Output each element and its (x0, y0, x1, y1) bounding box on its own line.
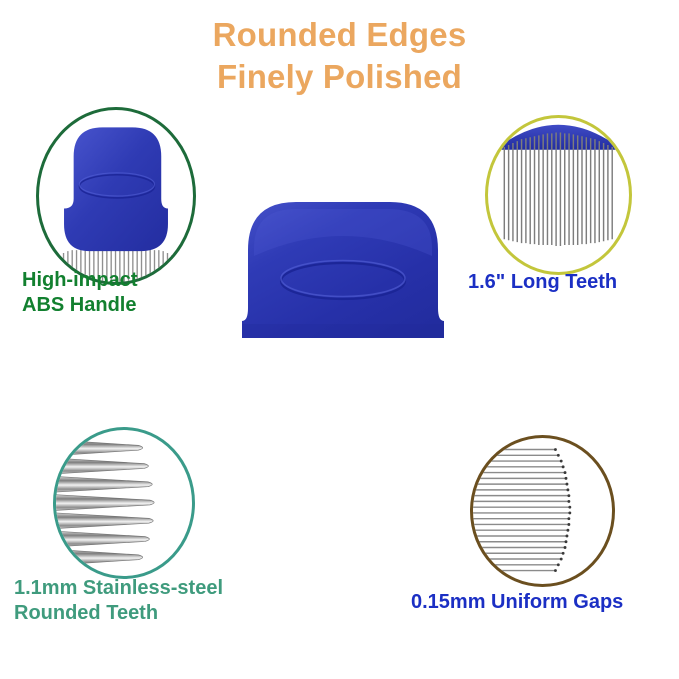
rounded-teeth-detail-icon (56, 430, 192, 576)
caption-abs-handle: High-impact ABS Handle (22, 268, 212, 318)
lice-comb-illustration (238, 196, 448, 486)
abs-handle-detail-icon (39, 110, 193, 282)
long-teeth-detail-icon (488, 118, 629, 272)
caption-long-teeth: 1.6" Long Teeth (468, 270, 679, 295)
headline-line-1: Rounded Edges (0, 14, 679, 56)
circle-abs-handle (36, 107, 196, 285)
uniform-gaps-detail-icon (473, 438, 612, 584)
caption-uniform-gaps: 0.15mm Uniform Gaps (411, 590, 673, 615)
product-comb-image (238, 196, 448, 486)
page-title: Rounded Edges Finely Polished (0, 14, 679, 98)
product-infographic: Rounded Edges Finely Polished (0, 0, 679, 679)
headline-line-2: Finely Polished (0, 56, 679, 98)
circle-uniform-gaps (470, 435, 615, 587)
circle-rounded-teeth (53, 427, 195, 579)
caption-rounded-teeth: 1.1mm Stainless-steel Rounded Teeth (14, 576, 294, 626)
circle-long-teeth (485, 115, 632, 275)
